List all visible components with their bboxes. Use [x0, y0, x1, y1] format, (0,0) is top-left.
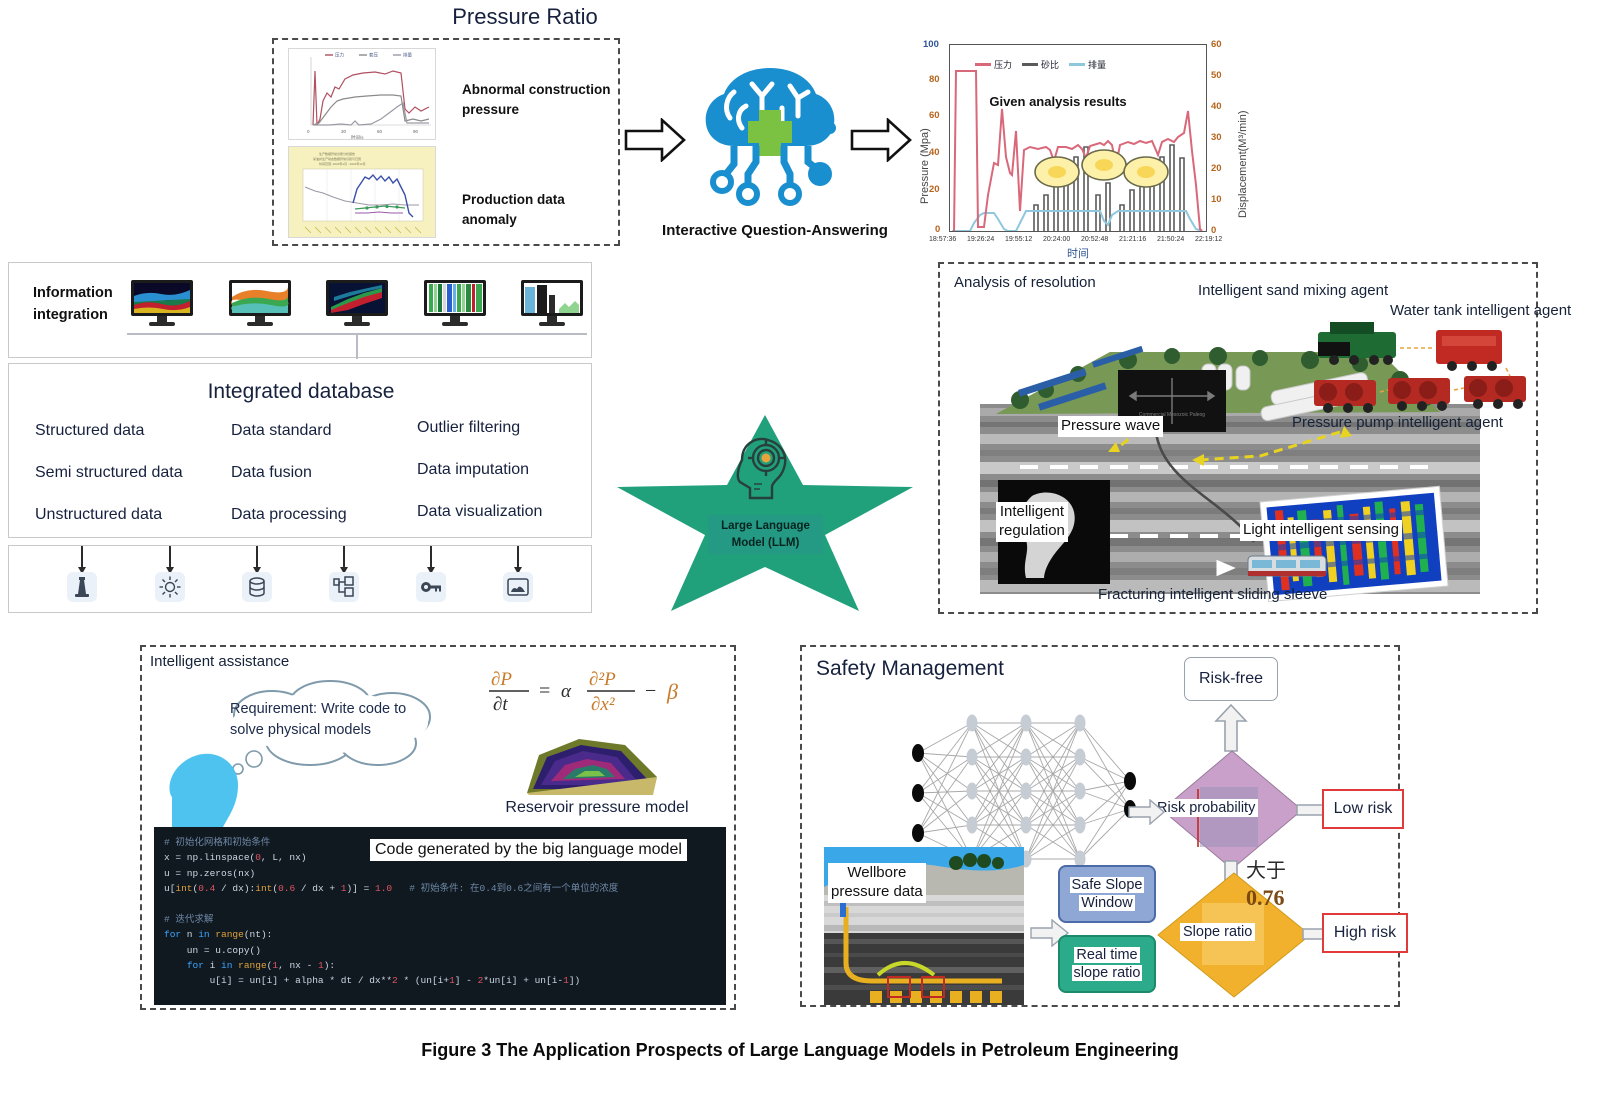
svg-text:∂x²: ∂x² — [591, 694, 615, 715]
intelligent-regulation-tag: Intelligent regulation — [996, 502, 1068, 542]
analysis-of-resolution-label: Analysis of resolution — [954, 274, 1096, 291]
key-icon[interactable] — [416, 572, 446, 602]
real-time-line2: slope ratio — [1072, 965, 1143, 981]
ai-head-target-icon — [728, 432, 792, 510]
safe-slope-line2: Window — [1079, 895, 1135, 911]
legend-swatch-displacement — [1069, 63, 1085, 66]
svg-text:−: − — [645, 680, 656, 702]
legend-item-pressure: 压力 — [975, 58, 1012, 71]
monitor-thumbnail-4 — [422, 279, 488, 327]
ytick-40: 40 — [929, 147, 940, 158]
svg-text:套压: 套压 — [369, 52, 378, 59]
intelligent-regulation-line1: Intelligent — [999, 503, 1065, 522]
monitor-thumbnail-5 — [519, 279, 585, 327]
y2tick-50: 50 — [1211, 70, 1222, 81]
ytick-0: 0 — [935, 224, 940, 235]
sand-mixing-agent-caption: Intelligent sand mixing agent — [1198, 282, 1388, 299]
wellbore-tag-line2: pressure data — [831, 883, 923, 902]
threshold-label: 大于 — [1246, 860, 1286, 882]
db-item-unstructured-data: Unstructured data — [35, 506, 162, 524]
data-source-icon-strip — [8, 545, 592, 613]
db-item-data-visualization: Data visualization — [417, 503, 542, 521]
legend-label-pressure: 压力 — [994, 58, 1012, 71]
y2tick-60: 60 — [1211, 39, 1222, 50]
chart-xlabel: 时间 — [949, 245, 1207, 261]
production-anomaly-thumbnail: 生产数据异常诊断分析报告 某油井生产动态数据异常识别与归因 时间范围: 2023… — [288, 146, 436, 238]
code-generated-tag: Code generated by the big language model — [370, 839, 687, 861]
chart-y2label: Displacement(M³/min) — [1237, 110, 1249, 218]
db-item-data-processing: Data processing — [231, 506, 347, 524]
xtick-4: 20:52:48 — [1081, 236, 1108, 243]
intelligent-assistance-label: Intelligent assistance — [150, 653, 289, 670]
given-analysis-results-label: Given analysis results — [963, 94, 1153, 109]
wellbore-pressure-tag: Wellbore pressure data — [828, 863, 926, 903]
safety-management-title: Safety Management — [816, 657, 1004, 681]
reservoir-model-caption: Reservoir pressure model — [472, 799, 722, 817]
svg-text:时间范围: 2023年1月 - 2023年12月: 时间范围: 2023年1月 - 2023年12月 — [319, 161, 366, 166]
arrow-down-3 — [256, 546, 258, 572]
intelligent-assistance-panel: Intelligent assistance Requirement: Writ… — [140, 645, 736, 1010]
low-risk-box: Low risk — [1322, 789, 1404, 829]
risk-probability-label: Risk probability — [1154, 799, 1258, 817]
thought-line1: Requirement: Write code to — [230, 699, 440, 720]
db-item-data-imputation: Data imputation — [417, 461, 529, 479]
svg-text:β: β — [666, 679, 678, 704]
flowchart-icon[interactable] — [329, 572, 359, 602]
legend-swatch-pressure — [975, 63, 991, 66]
xtick-2: 19:55:12 — [1005, 236, 1032, 243]
svg-text:90: 90 — [413, 129, 419, 134]
connector-vertical — [356, 333, 358, 359]
thought-bubble-text: Requirement: Write code to solve physica… — [230, 699, 440, 741]
chart-plot-area — [949, 44, 1207, 232]
svg-text:时间/s: 时间/s — [351, 134, 364, 140]
safe-slope-window-box: Safe Slope Window — [1058, 865, 1156, 923]
ytick-20: 20 — [929, 184, 940, 195]
svg-text:=: = — [539, 680, 550, 702]
page-title: Pressure Ratio — [0, 4, 1050, 30]
llm-label: Large Language Model (LLM) — [708, 515, 823, 554]
anomaly-input-panel: 030 6090 时间/s 压力 套压 排量 Abnormal construc… — [272, 38, 620, 246]
y2tick-0: 0 — [1211, 225, 1216, 236]
intelligent-regulation-line2: regulation — [999, 522, 1065, 541]
llm-label-line1: Large Language — [712, 518, 819, 535]
fracturing-sliding-sleeve-caption: Fracturing intelligent sliding sleeve — [1098, 586, 1327, 603]
svg-text:∂t: ∂t — [493, 694, 508, 715]
svg-text:某油井生产动态数据异常识别与归因: 某油井生产动态数据异常识别与归因 — [313, 156, 361, 161]
arrow-down-6 — [517, 546, 519, 572]
legend-swatch-sandratio — [1022, 63, 1038, 66]
sun-gear-icon[interactable] — [155, 572, 185, 602]
xtick-3: 20:24:00 — [1043, 236, 1070, 243]
svg-text:生产数据异常诊断分析报告: 生产数据异常诊断分析报告 — [319, 151, 355, 156]
y2tick-30: 30 — [1211, 132, 1222, 143]
threshold-annotation: 大于 0.76 — [1246, 858, 1286, 913]
monitor-thumbnail-1 — [129, 279, 195, 327]
arrow-down-5 — [430, 546, 432, 572]
y2tick-40: 40 — [1211, 101, 1222, 112]
integrated-database-title: Integrated database — [9, 380, 593, 404]
db-item-data-fusion: Data fusion — [231, 464, 312, 482]
xtick-5: 21:21:16 — [1119, 236, 1146, 243]
abnormal-pressure-label: Abnormal construction pressure — [462, 80, 612, 119]
arrow-up-riskfree — [1214, 703, 1248, 753]
block-arrow-right-1 — [624, 118, 686, 167]
head-silhouette-icon — [162, 739, 252, 829]
xtick-1: 19:26:24 — [967, 236, 994, 243]
ai-brain-icon — [690, 62, 850, 212]
svg-text:30: 30 — [341, 129, 347, 134]
svg-text:∂P: ∂P — [491, 669, 512, 690]
monitor-thumbnail-3 — [324, 279, 390, 327]
real-time-line1: Real time — [1074, 947, 1139, 963]
safety-management-panel: Safety Management — [800, 645, 1400, 1007]
llm-label-line2: Model (LLM) — [712, 535, 819, 552]
y2tick-20: 20 — [1211, 163, 1222, 174]
information-integration-panel: Information integration — [8, 262, 592, 358]
information-integration-label: Information integration — [33, 283, 143, 327]
arrow-down-2 — [169, 546, 171, 572]
block-arrow-right-2 — [850, 118, 912, 167]
abnormal-pressure-thumbnail: 030 6090 时间/s 压力 套压 排量 — [288, 48, 436, 140]
slope-ratio-label: Slope ratio — [1180, 923, 1255, 941]
real-time-slope-ratio-box: Real time slope ratio — [1058, 935, 1156, 993]
pressure-wave-tag: Pressure wave — [1058, 416, 1163, 437]
production-anomaly-text: Production data anomaly — [462, 192, 565, 227]
svg-text:∂²P: ∂²P — [589, 669, 616, 690]
integrated-database-panel: Integrated database Structured data Semi… — [8, 363, 592, 538]
legend-item-sandratio: 砂比 — [1022, 58, 1059, 71]
db-item-outlier-filtering: Outlier filtering — [417, 419, 520, 437]
pressure-pump-agent-caption: Pressure pump intelligent agent — [1292, 414, 1503, 431]
xtick-7: 22:19:12 — [1195, 236, 1222, 243]
svg-text:60: 60 — [377, 129, 383, 134]
svg-text:压力: 压力 — [335, 52, 344, 59]
arrow-down-4 — [343, 546, 345, 572]
database-icon[interactable] — [242, 572, 272, 602]
ytick-80: 80 — [929, 74, 940, 85]
abnormal-pressure-text: Abnormal construction pressure — [462, 82, 611, 117]
wellbore-tag-line1: Wellbore — [831, 864, 923, 883]
db-item-data-standard: Data standard — [231, 422, 332, 440]
production-anomaly-label: Production data anomaly — [462, 190, 612, 229]
field-operation-panel: Analysis of resolution Intelligent sand … — [938, 262, 1538, 614]
svg-text:排量: 排量 — [403, 52, 412, 59]
xtick-6: 21:50:24 — [1157, 236, 1184, 243]
pde-equation: ∂P ∂t = α ∂²P ∂x² − β — [477, 661, 707, 730]
analysis-result-chart: Pressure (Mpa) Displacement(M³/min) 100 … — [905, 36, 1255, 261]
safe-slope-line1: Safe Slope — [1070, 877, 1145, 893]
reservoir-model-image — [517, 735, 667, 797]
interactive-qa-label: Interactive Question-Answering — [650, 222, 900, 239]
arrow-down-1 — [81, 546, 83, 572]
thought-line2: solve physical models — [230, 720, 440, 741]
oil-derrick-icon[interactable] — [67, 572, 97, 602]
legend-label-displacement: 排量 — [1088, 58, 1106, 71]
db-item-structured-data: Structured data — [35, 422, 144, 440]
db-item-semi-structured-data: Semi structured data — [35, 464, 183, 482]
ytick-60: 60 — [929, 110, 940, 121]
legend-label-sandratio: 砂比 — [1041, 58, 1059, 71]
threshold-value: 0.76 — [1246, 884, 1286, 913]
chart-legend: 压力 砂比 排量 — [975, 58, 1106, 71]
legend-item-displacement: 排量 — [1069, 58, 1106, 71]
xtick-0: 18:57:36 — [929, 236, 956, 243]
light-intelligent-sensing-tag: Light intelligent sensing — [1240, 520, 1402, 541]
image-cloud-icon[interactable] — [503, 572, 533, 602]
high-risk-box: High risk — [1322, 913, 1408, 953]
risk-free-box: Risk-free — [1184, 657, 1278, 701]
monitor-thumbnail-2 — [227, 279, 293, 327]
arrow-right-nn-output — [1128, 799, 1166, 825]
y2tick-10: 10 — [1211, 194, 1222, 205]
ytick-100: 100 — [923, 39, 939, 50]
figure-caption: Figure 3 The Application Prospects of La… — [0, 1040, 1600, 1061]
svg-text:α: α — [561, 681, 572, 702]
